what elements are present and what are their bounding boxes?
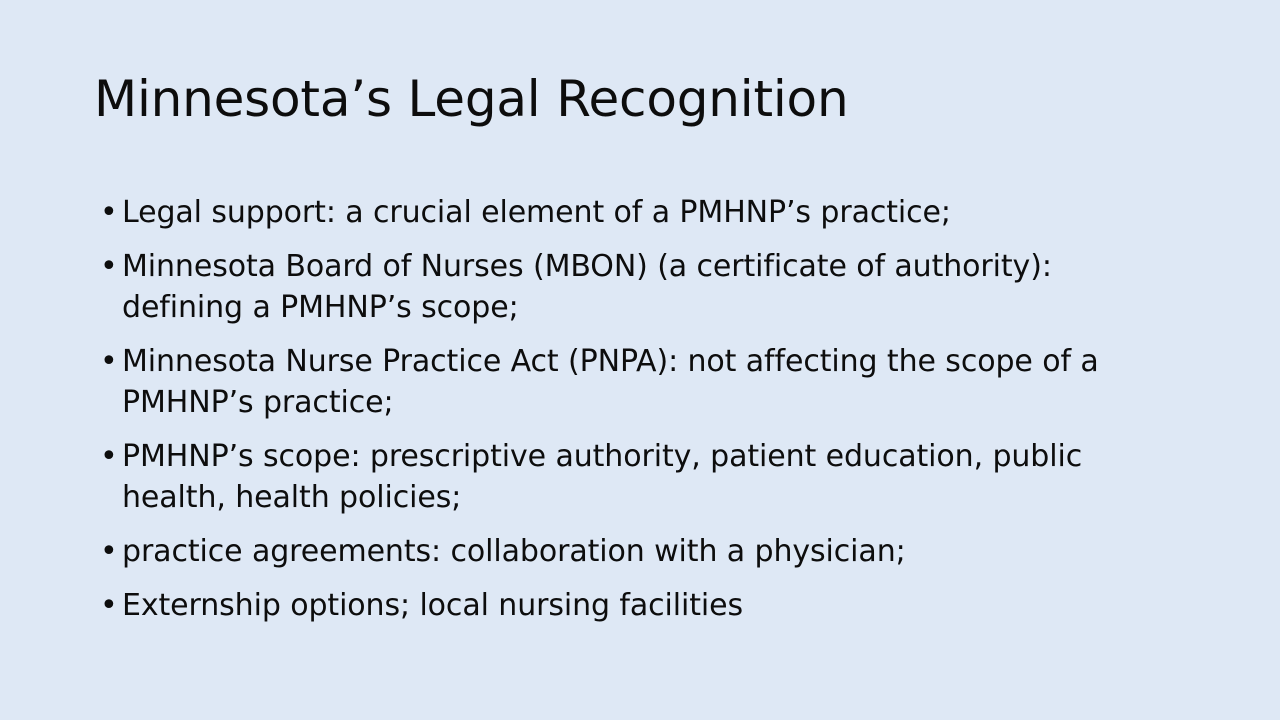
list-item-text: Minnesota Nurse Practice Act (PNPA): not… (122, 341, 1147, 423)
list-item-text: PMHNP’s scope: prescriptive authority, p… (122, 436, 1122, 518)
list-item-text: Externship options; local nursing facili… (122, 585, 1132, 626)
list-item-text: Legal support: a crucial element of a PM… (122, 192, 1132, 233)
bullet-dot-icon: • (100, 531, 114, 572)
list-item: • Externship options; local nursing faci… (96, 585, 1132, 626)
bullet-dot-icon: • (100, 341, 114, 382)
list-item: • PMHNP’s scope: prescriptive authority,… (96, 436, 1122, 518)
bullet-dot-icon: • (100, 436, 114, 477)
list-item-text: practice agreements: collaboration with … (122, 531, 1132, 572)
list-item: • Legal support: a crucial element of a … (96, 192, 1132, 233)
list-item: • Minnesota Board of Nurses (MBON) (a ce… (96, 246, 1112, 328)
bullet-dot-icon: • (100, 192, 114, 233)
page-title: Minnesota’s Legal Recognition (94, 68, 1194, 130)
bullet-dot-icon: • (100, 585, 114, 626)
bullet-list: • Legal support: a crucial element of a … (96, 192, 1156, 626)
bullet-dot-icon: • (100, 246, 114, 287)
list-item-text: Minnesota Board of Nurses (MBON) (a cert… (122, 246, 1112, 328)
list-item: • Minnesota Nurse Practice Act (PNPA): n… (96, 341, 1147, 423)
presentation-slide: Minnesota’s Legal Recognition • Legal su… (0, 0, 1280, 720)
list-item: • practice agreements: collaboration wit… (96, 531, 1132, 572)
